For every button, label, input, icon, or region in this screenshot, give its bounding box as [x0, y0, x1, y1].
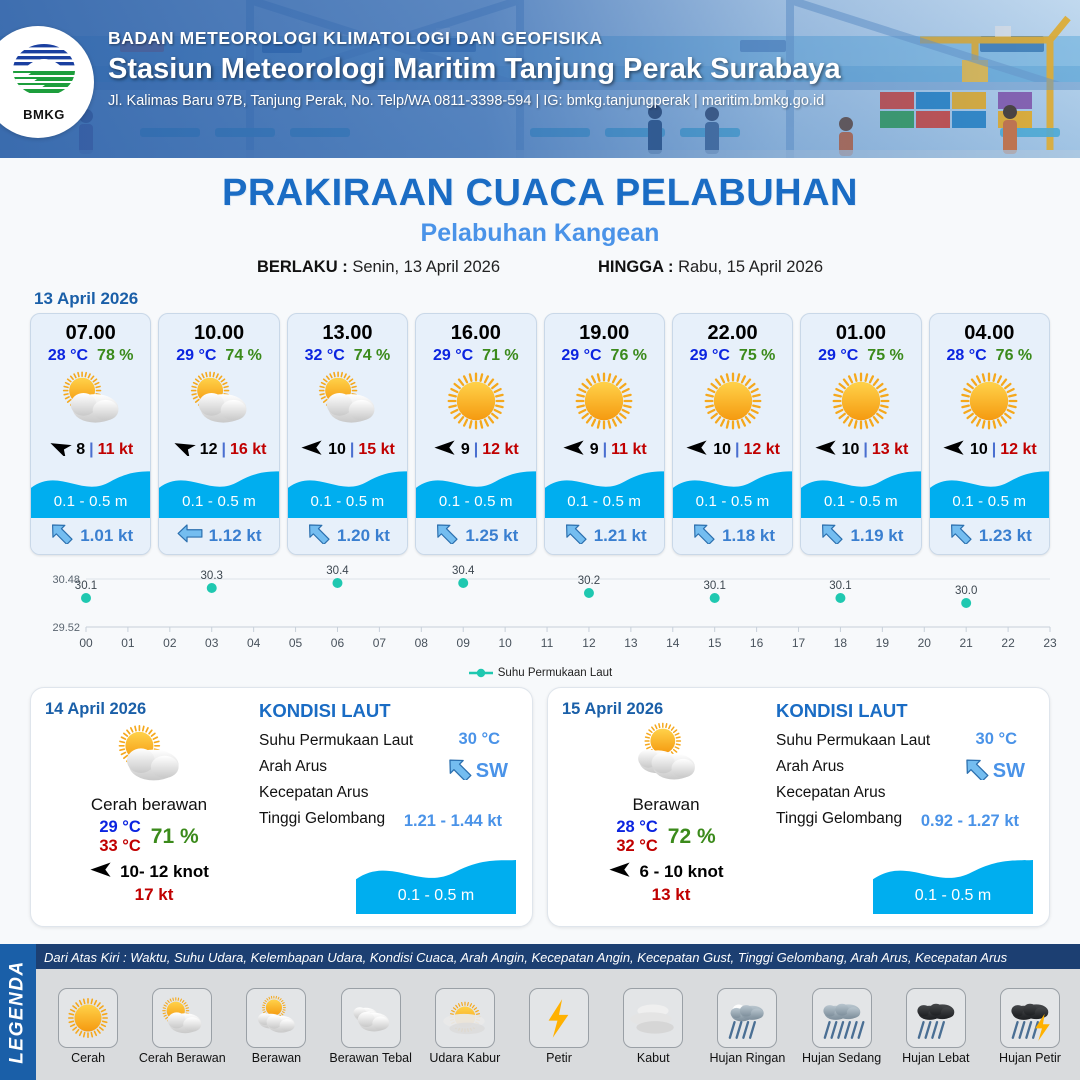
- card-temperature: 29 °C: [176, 347, 216, 365]
- sst-legend-label: Suhu Permukaan Laut: [498, 667, 612, 679]
- legend-icon-box: [623, 988, 683, 1048]
- card-humidity: 74 %: [225, 347, 261, 365]
- legend-item: Berawan Tebal: [325, 988, 417, 1065]
- card-current-speed: 1.25 kt: [465, 526, 518, 546]
- card-temperature: 29 °C: [818, 347, 858, 365]
- weather-icon-cerah: [567, 364, 641, 438]
- card-wave: 0.1 - 0.5 m: [31, 466, 150, 518]
- legend-item: Petir: [513, 988, 605, 1065]
- wind-direction-arrow-sw: [48, 439, 72, 456]
- legend-item-label: Cerah: [42, 1051, 134, 1065]
- legend-icon-box: [152, 988, 212, 1048]
- card-gust-speed: 13 kt: [872, 441, 908, 459]
- sst-label: Suhu Permukaan Laut: [776, 732, 930, 750]
- card-current-direction: [433, 523, 459, 549]
- wind-direction-arrow-w: [562, 439, 586, 456]
- card-wind-separator: |: [350, 441, 354, 459]
- legend-icon-box: [58, 988, 118, 1048]
- card-time: 10.00: [159, 314, 278, 345]
- panel-temp-max: 32 °C: [616, 837, 657, 855]
- bmkg-logo-text: BMKG: [11, 107, 77, 122]
- card-gust-speed: 12 kt: [743, 441, 779, 459]
- legend-item-label: Berawan: [230, 1051, 322, 1065]
- current-direction-label: Arah Arus: [776, 758, 844, 776]
- valid-from: BERLAKU : Senin, 13 April 2026: [257, 258, 500, 277]
- panel-current-direction-arrow: [445, 758, 473, 785]
- card-wave: 0.1 - 0.5 m: [288, 466, 407, 518]
- card-wind-speed: 12: [200, 441, 218, 459]
- legend-side-tab: LEGENDA: [0, 944, 36, 1080]
- card-wind-speed: 10: [328, 441, 346, 459]
- card-wind-speed: 8: [76, 441, 85, 459]
- weather-icon-hujan-ringan: [721, 992, 773, 1044]
- weather-icon-hujan-sedang: [816, 992, 868, 1044]
- current-direction-value: SW: [476, 760, 508, 783]
- wind-direction-arrow-w: [685, 439, 709, 456]
- svg-text:07: 07: [373, 636, 387, 650]
- card-weather-icon: [416, 367, 535, 435]
- hourly-card: 19.00 29 °C 76 % 9 | 11 kt: [544, 313, 665, 555]
- card-weather-icon: [31, 367, 150, 435]
- panel-temp-min: 29 °C: [99, 818, 140, 836]
- validity-row: BERLAKU : Senin, 13 April 2026 HINGGA : …: [0, 258, 1080, 277]
- wind-direction-arrow-w: [942, 439, 966, 456]
- card-weather-icon: [288, 367, 407, 435]
- card-weather-icon: [673, 367, 792, 435]
- wind-direction-arrow-w: [608, 861, 632, 878]
- hourly-card: 10.00 29 °C 74 % 12 | 16 kt: [158, 313, 279, 555]
- sst-legend-marker: [468, 667, 494, 679]
- current-direction-arrow-sw: [562, 523, 588, 544]
- current-speed-label: Kecepatan Arus: [776, 784, 885, 802]
- card-wind-direction: [433, 439, 457, 461]
- panel-wave-height: 0.1 - 0.5 m: [356, 887, 516, 905]
- card-current-direction: [562, 523, 588, 549]
- weather-icon-cerah-berawan: [156, 992, 208, 1044]
- legend-icon-box: [812, 988, 872, 1048]
- card-wave: 0.1 - 0.5 m: [673, 466, 792, 518]
- panel-wind-speed: 10- 12 knot: [120, 862, 209, 882]
- panel-temp-min: 28 °C: [616, 818, 657, 836]
- card-wind-direction: [172, 439, 196, 461]
- card-wave-height: 0.1 - 0.5 m: [673, 493, 792, 510]
- card-time: 07.00: [31, 314, 150, 345]
- panel-wind-speed: 6 - 10 knot: [639, 862, 723, 882]
- legend-item: Udara Kabur: [419, 988, 511, 1065]
- bmkg-logo-mark: [11, 42, 77, 104]
- panel-humidity: 71 %: [151, 825, 199, 849]
- legend-item-label: Udara Kabur: [419, 1051, 511, 1065]
- svg-text:16: 16: [750, 636, 764, 650]
- sst-value: 30 °C: [459, 730, 500, 748]
- card-wind-direction: [685, 439, 709, 461]
- card-wind-separator: |: [992, 441, 996, 459]
- hourly-card: 01.00 29 °C 75 % 10 | 13 kt: [800, 313, 921, 555]
- sst-label: Suhu Permukaan Laut: [259, 732, 413, 750]
- card-wave-height: 0.1 - 0.5 m: [31, 493, 150, 510]
- weather-icon-cerah-berawan: [109, 717, 189, 797]
- weather-icon-berawan: [626, 717, 706, 797]
- legend-item-label: Berawan Tebal: [325, 1051, 417, 1065]
- svg-text:05: 05: [289, 636, 303, 650]
- svg-text:30.1: 30.1: [75, 580, 97, 592]
- legend-icon-box: [341, 988, 401, 1048]
- panel-gust-speed: 13 kt: [572, 885, 770, 905]
- card-humidity: 76 %: [996, 347, 1032, 365]
- station-contact: Jl. Kalimas Baru 97B, Tanjung Perak, No.…: [108, 93, 841, 109]
- current-speed-label: Kecepatan Arus: [259, 784, 368, 802]
- card-weather-icon: [159, 367, 278, 435]
- card-wind-separator: |: [221, 441, 225, 459]
- svg-text:30.0: 30.0: [955, 585, 977, 597]
- legend-item-label: Petir: [513, 1051, 605, 1065]
- current-direction-value: SW: [993, 760, 1025, 783]
- svg-text:30.1: 30.1: [704, 580, 726, 592]
- card-wave-height: 0.1 - 0.5 m: [801, 493, 920, 510]
- legend-icon-box: [529, 988, 589, 1048]
- svg-text:17: 17: [792, 636, 806, 650]
- card-gust-speed: 11 kt: [611, 441, 647, 459]
- wave-graphic: [416, 466, 536, 518]
- wave-graphic: [356, 854, 516, 914]
- legend-item: Cerah: [42, 988, 134, 1065]
- weather-icon-petir: [533, 992, 585, 1044]
- valid-to-label: HINGGA :: [598, 258, 673, 276]
- weather-icon-cerah-berawan: [182, 364, 256, 438]
- valid-from-label: BERLAKU :: [257, 258, 348, 276]
- agency-name: BADAN METEOROLOGI KLIMATOLOGI DAN GEOFIS…: [108, 28, 841, 49]
- sst-chart-legend: Suhu Permukaan Laut: [0, 667, 1080, 679]
- daily-panel: 14 April 2026 Cerah berawan 29 °C 33 °C …: [30, 687, 533, 927]
- legend-icon-box: [717, 988, 777, 1048]
- panel-wind-direction: [608, 861, 632, 883]
- panel-wave: 0.1 - 0.5 m: [873, 854, 1033, 914]
- svg-text:23: 23: [1043, 636, 1057, 650]
- current-direction-arrow-sw: [818, 523, 844, 544]
- svg-text:18: 18: [834, 636, 848, 650]
- wave-graphic: [159, 466, 279, 518]
- panel-humidity: 72 %: [668, 825, 716, 849]
- legend-item-label: Cerah Berawan: [136, 1051, 228, 1065]
- svg-text:15: 15: [708, 636, 722, 650]
- svg-text:30.4: 30.4: [452, 565, 475, 577]
- card-temperature: 29 °C: [561, 347, 601, 365]
- svg-text:02: 02: [163, 636, 177, 650]
- legend-item: Hujan Sedang: [796, 988, 888, 1065]
- card-humidity: 78 %: [97, 347, 133, 365]
- hourly-date-label: 13 April 2026: [34, 289, 1080, 309]
- weather-icon-cerah-berawan: [310, 364, 384, 438]
- current-direction-arrow-sw: [690, 523, 716, 544]
- current-speed-value: 1.21 - 1.44 kt: [404, 812, 502, 831]
- weather-icon-cerah: [952, 364, 1026, 438]
- panel-wave-height: 0.1 - 0.5 m: [873, 887, 1033, 905]
- valid-to: HINGGA : Rabu, 15 April 2026: [598, 258, 823, 277]
- weather-icon-berawan: [250, 992, 302, 1044]
- legend-item: Berawan: [230, 988, 322, 1065]
- wind-direction-arrow-w: [89, 861, 113, 878]
- legend-icon-box: [906, 988, 966, 1048]
- panel-current-direction-arrow: [962, 758, 990, 785]
- svg-text:06: 06: [331, 636, 345, 650]
- card-wave-height: 0.1 - 0.5 m: [545, 493, 664, 510]
- card-wind-direction: [562, 439, 586, 461]
- card-current-speed: 1.18 kt: [722, 526, 775, 546]
- svg-text:20: 20: [918, 636, 932, 650]
- hourly-card: 07.00 28 °C 78 % 8 | 11 kt: [30, 313, 151, 555]
- svg-text:21: 21: [959, 636, 973, 650]
- hourly-card: 04.00 28 °C 76 % 10 | 12 kt: [929, 313, 1050, 555]
- card-current-speed: 1.23 kt: [979, 526, 1032, 546]
- wave-graphic: [31, 466, 151, 518]
- svg-text:12: 12: [582, 636, 596, 650]
- card-wind-speed: 10: [970, 441, 988, 459]
- current-direction-arrow-sw: [445, 758, 473, 780]
- card-time: 16.00: [416, 314, 535, 345]
- sea-conditions-title: KONDISI LAUT: [776, 700, 1035, 722]
- legend-item-label: Kabut: [607, 1051, 699, 1065]
- weather-icon-udara-kabur: [439, 992, 491, 1044]
- daily-forecast-panels: 14 April 2026 Cerah berawan 29 °C 33 °C …: [0, 679, 1080, 927]
- weather-icon-hujan-lebat: [910, 992, 962, 1044]
- port-name: Pelabuhan Kangean: [0, 219, 1080, 248]
- card-wave: 0.1 - 0.5 m: [545, 466, 664, 518]
- current-direction-arrow-sw: [305, 523, 331, 544]
- svg-text:00: 00: [79, 636, 93, 650]
- weather-icon-cerah: [439, 364, 513, 438]
- card-gust-speed: 12 kt: [1000, 441, 1036, 459]
- card-current-direction: [818, 523, 844, 549]
- wave-graphic: [288, 466, 408, 518]
- card-wave-height: 0.1 - 0.5 m: [416, 493, 535, 510]
- card-wave-height: 0.1 - 0.5 m: [288, 493, 407, 510]
- svg-text:30.3: 30.3: [201, 570, 223, 582]
- svg-text:13: 13: [624, 636, 638, 650]
- wind-direction-arrow-w: [814, 439, 838, 456]
- card-wind-speed: 10: [842, 441, 860, 459]
- panel-gust-speed: 17 kt: [55, 885, 253, 905]
- legend-item: Hujan Petir: [984, 988, 1076, 1065]
- wave-graphic: [873, 854, 1033, 914]
- wind-direction-arrow-w: [433, 439, 457, 456]
- legend-side-label: LEGENDA: [7, 960, 29, 1063]
- card-gust-speed: 11 kt: [98, 441, 134, 459]
- wind-direction-arrow-w: [300, 439, 324, 456]
- card-wave-height: 0.1 - 0.5 m: [930, 493, 1049, 510]
- panel-weather-icon: [562, 721, 770, 793]
- svg-text:30.1: 30.1: [829, 580, 851, 592]
- page-header: BMKG BADAN METEOROLOGI KLIMATOLOGI DAN G…: [0, 0, 1080, 158]
- card-temperature: 28 °C: [946, 347, 986, 365]
- svg-text:22: 22: [1001, 636, 1015, 650]
- legend-icon-box: [246, 988, 306, 1048]
- card-temperature: 28 °C: [48, 347, 88, 365]
- hourly-card: 22.00 29 °C 75 % 10 | 12 kt: [672, 313, 793, 555]
- weather-icon-berawan-tebal: [345, 992, 397, 1044]
- weather-icon-kabut: [627, 992, 679, 1044]
- hourly-forecast-row: 07.00 28 °C 78 % 8 | 11 kt: [0, 313, 1080, 555]
- current-direction-arrow-w: [177, 523, 203, 544]
- card-humidity: 71 %: [482, 347, 518, 365]
- svg-text:09: 09: [457, 636, 471, 650]
- card-current-speed: 1.12 kt: [209, 526, 262, 546]
- card-wind-separator: |: [603, 441, 607, 459]
- wind-direction-arrow-sw: [172, 439, 196, 456]
- card-wind-separator: |: [735, 441, 739, 459]
- card-temperature: 29 °C: [690, 347, 730, 365]
- weather-icon-hujan-petir: [1004, 992, 1056, 1044]
- svg-text:03: 03: [205, 636, 219, 650]
- card-current-speed: 1.19 kt: [850, 526, 903, 546]
- current-direction-arrow-sw: [433, 523, 459, 544]
- legend-item: Kabut: [607, 988, 699, 1065]
- card-weather-icon: [801, 367, 920, 435]
- card-time: 19.00: [545, 314, 664, 345]
- card-wave: 0.1 - 0.5 m: [801, 466, 920, 518]
- panel-temp-max: 33 °C: [99, 837, 140, 855]
- card-wind-separator: |: [89, 441, 93, 459]
- legend-item-label: Hujan Petir: [984, 1051, 1076, 1065]
- panel-wind-direction: [89, 861, 113, 883]
- legend-item-label: Hujan Lebat: [890, 1051, 982, 1065]
- legend-item: Hujan Ringan: [701, 988, 793, 1065]
- card-current-direction: [48, 523, 74, 549]
- current-direction-arrow-sw: [962, 758, 990, 780]
- card-gust-speed: 12 kt: [482, 441, 518, 459]
- weather-icon-cerah: [824, 364, 898, 438]
- svg-text:30.4: 30.4: [326, 565, 349, 577]
- card-wind-direction: [48, 439, 72, 461]
- card-current-speed: 1.20 kt: [337, 526, 390, 546]
- hourly-card: 13.00 32 °C 74 % 10 | 15 kt: [287, 313, 408, 555]
- card-temperature: 32 °C: [305, 347, 345, 365]
- svg-text:10: 10: [498, 636, 512, 650]
- valid-to-value: Rabu, 15 April 2026: [678, 258, 823, 276]
- panel-weather-icon: [45, 721, 253, 793]
- svg-text:04: 04: [247, 636, 261, 650]
- card-wind-speed: 9: [590, 441, 599, 459]
- wave-graphic: [930, 466, 1050, 518]
- sst-value: 30 °C: [976, 730, 1017, 748]
- card-current-speed: 1.01 kt: [80, 526, 133, 546]
- card-time: 13.00: [288, 314, 407, 345]
- card-wind-separator: |: [474, 441, 478, 459]
- card-wind-speed: 9: [461, 441, 470, 459]
- card-wave-height: 0.1 - 0.5 m: [159, 493, 278, 510]
- card-current-direction: [947, 523, 973, 549]
- card-current-direction: [177, 523, 203, 549]
- card-current-speed: 1.21 kt: [594, 526, 647, 546]
- legend-bar: LEGENDA Dari Atas Kiri : Waktu, Suhu Uda…: [0, 944, 1080, 1080]
- card-wind-direction: [942, 439, 966, 461]
- panel-wave: 0.1 - 0.5 m: [356, 854, 516, 914]
- sst-chart-svg: 30.4829.52000102030405060708091011121314…: [22, 565, 1058, 665]
- svg-text:29.52: 29.52: [52, 622, 80, 634]
- legend-item: Cerah Berawan: [136, 988, 228, 1065]
- card-time: 04.00: [930, 314, 1049, 345]
- sea-conditions-title: KONDISI LAUT: [259, 700, 518, 722]
- wave-height-label: Tinggi Gelombang: [259, 810, 385, 828]
- title-block: PRAKIRAAN CUACA PELABUHAN Pelabuhan Kang…: [0, 158, 1080, 277]
- card-gust-speed: 15 kt: [358, 441, 394, 459]
- legend-item-label: Hujan Ringan: [701, 1051, 793, 1065]
- svg-text:30.2: 30.2: [578, 575, 600, 587]
- svg-text:01: 01: [121, 636, 135, 650]
- card-humidity: 75 %: [739, 347, 775, 365]
- current-direction-arrow-sw: [947, 523, 973, 544]
- legend-item: Hujan Lebat: [890, 988, 982, 1065]
- svg-text:08: 08: [415, 636, 429, 650]
- legend-icon-box: [435, 988, 495, 1048]
- card-current-direction: [305, 523, 331, 549]
- card-gust-speed: 16 kt: [230, 441, 266, 459]
- valid-from-value: Senin, 13 April 2026: [352, 258, 500, 276]
- current-direction-arrow-sw: [48, 523, 74, 544]
- card-humidity: 76 %: [611, 347, 647, 365]
- card-time: 01.00: [801, 314, 920, 345]
- card-current-direction: [690, 523, 716, 549]
- wave-graphic: [673, 466, 793, 518]
- daily-panel: 15 April 2026 Berawan 28 °C 32 °C 72 %: [547, 687, 1050, 927]
- card-weather-icon: [545, 367, 664, 435]
- card-weather-icon: [930, 367, 1049, 435]
- wave-graphic: [801, 466, 921, 518]
- svg-text:11: 11: [541, 636, 554, 650]
- card-wind-direction: [814, 439, 838, 461]
- card-wave: 0.1 - 0.5 m: [416, 466, 535, 518]
- weather-icon-cerah: [696, 364, 770, 438]
- card-wind-separator: |: [863, 441, 867, 459]
- sst-chart: 30.4829.52000102030405060708091011121314…: [22, 565, 1058, 665]
- hourly-card: 16.00 29 °C 71 % 9 | 12 kt: [415, 313, 536, 555]
- legend-note: Dari Atas Kiri : Waktu, Suhu Udara, Kele…: [36, 944, 1080, 969]
- station-name: Stasiun Meteorologi Maritim Tanjung Pera…: [108, 53, 841, 86]
- weather-icon-cerah-berawan: [54, 364, 128, 438]
- current-speed-value: 0.92 - 1.27 kt: [921, 812, 1019, 831]
- legend-icon-row: Cerah Cerah Berawan Berawan: [36, 969, 1080, 1080]
- legend-icon-box: [1000, 988, 1060, 1048]
- card-time: 22.00: [673, 314, 792, 345]
- svg-text:14: 14: [666, 636, 680, 650]
- svg-text:19: 19: [876, 636, 890, 650]
- card-humidity: 74 %: [354, 347, 390, 365]
- wave-height-label: Tinggi Gelombang: [776, 810, 902, 828]
- page-title: PRAKIRAAN CUACA PELABUHAN: [0, 172, 1080, 215]
- card-humidity: 75 %: [867, 347, 903, 365]
- wave-graphic: [545, 466, 665, 518]
- panel-condition: Cerah berawan: [45, 795, 253, 815]
- card-wind-direction: [300, 439, 324, 461]
- card-wave: 0.1 - 0.5 m: [930, 466, 1049, 518]
- weather-icon-cerah: [62, 992, 114, 1044]
- panel-condition: Berawan: [562, 795, 770, 815]
- card-wave: 0.1 - 0.5 m: [159, 466, 278, 518]
- card-temperature: 29 °C: [433, 347, 473, 365]
- current-direction-label: Arah Arus: [259, 758, 327, 776]
- card-wind-speed: 10: [713, 441, 731, 459]
- legend-item-label: Hujan Sedang: [796, 1051, 888, 1065]
